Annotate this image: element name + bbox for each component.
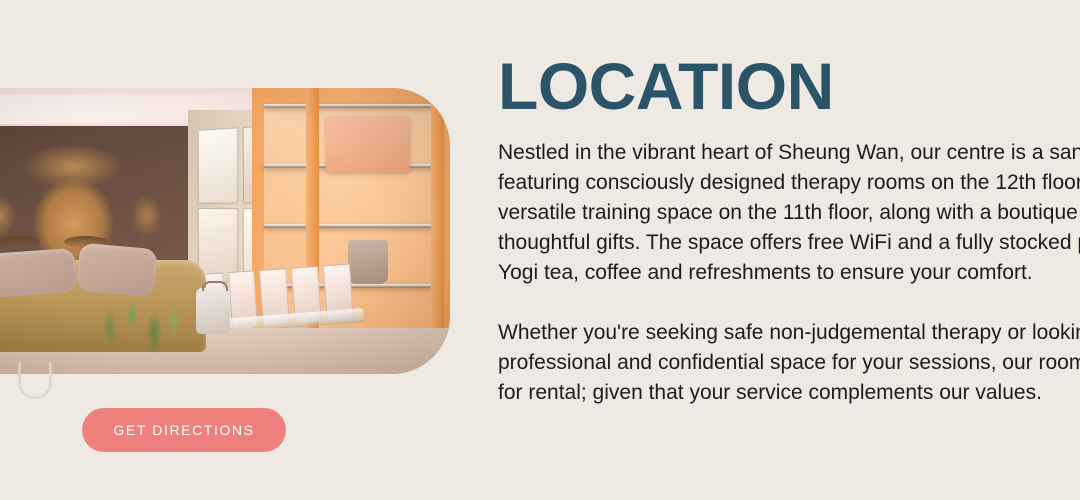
body-copy: Nestled in the vibrant heart of Sheung W… <box>498 138 1080 408</box>
media-column: GET DIRECTIONS <box>0 0 470 500</box>
shelf-product <box>326 116 410 172</box>
page-title: LOCATION <box>498 53 834 119</box>
clinic-interior-photo <box>0 88 450 374</box>
cushion <box>0 248 77 300</box>
text-column: LOCATION Nestled in the vibrant heart of… <box>498 0 1080 500</box>
paragraph-intro: Nestled in the vibrant heart of Sheung W… <box>498 138 1080 288</box>
shelf-mug <box>348 240 388 284</box>
leaf-watermark-icon <box>18 362 52 399</box>
photo-canvas <box>0 88 450 374</box>
location-section: GET DIRECTIONS LOCATION Nestled in the v… <box>0 0 1080 500</box>
shelf-row <box>264 224 434 228</box>
get-directions-button[interactable]: GET DIRECTIONS <box>82 408 286 452</box>
brochure <box>198 127 237 202</box>
paragraph-rental: Whether you're seeking safe non-judgemen… <box>498 318 1080 408</box>
plant <box>86 272 196 370</box>
shelf-row <box>264 104 434 108</box>
kettle <box>196 288 230 334</box>
